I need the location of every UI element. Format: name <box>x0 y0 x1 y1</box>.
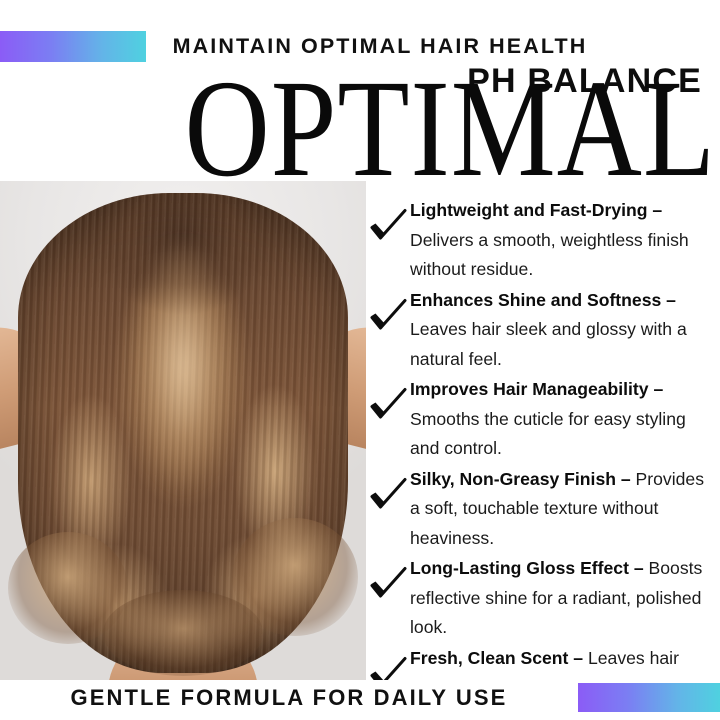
checkmark-icon <box>366 383 410 427</box>
benefit-text: Lightweight and Fast-Drying – Delivers a… <box>410 196 714 285</box>
hair-model-photo <box>0 181 366 680</box>
footer-tagline: GENTLE FORMULA FOR DAILY USE <box>0 682 578 713</box>
benefit-text: Enhances Shine and Softness – Leaves hai… <box>410 286 714 375</box>
benefit-title: Enhances Shine and Softness – <box>410 290 676 310</box>
benefit-description: Delivers a smooth, weightless finish wit… <box>410 230 689 280</box>
checkmark-icon <box>366 562 410 606</box>
list-item: Improves Hair Manageability – Smooths th… <box>368 375 714 464</box>
header-big-word: OPTIMAL <box>0 70 716 188</box>
benefit-text: Silky, Non-Greasy Finish – Provides a so… <box>410 465 714 554</box>
benefit-title: Silky, Non-Greasy Finish – <box>410 469 631 489</box>
benefit-text: Improves Hair Manageability – Smooths th… <box>410 375 714 464</box>
list-item: Long-Lasting Gloss Effect – Boosts refle… <box>368 554 714 643</box>
checkmark-icon <box>366 473 410 517</box>
benefit-title: Fresh, Clean Scent – <box>410 648 583 668</box>
bottom-gradient-accent-bar <box>578 683 720 712</box>
checkmark-icon <box>366 204 410 248</box>
benefits-list: Lightweight and Fast-Drying – Delivers a… <box>368 196 714 704</box>
list-item: Lightweight and Fast-Drying – Delivers a… <box>368 196 714 285</box>
list-item: Enhances Shine and Softness – Leaves hai… <box>368 286 714 375</box>
top-gradient-accent-bar <box>0 31 146 62</box>
list-item: Silky, Non-Greasy Finish – Provides a so… <box>368 465 714 554</box>
benefit-title: Improves Hair Manageability – <box>410 379 663 399</box>
poster-canvas: MAINTAIN OPTIMAL HAIR HEALTH PH BALANCE … <box>0 0 720 720</box>
checkmark-icon <box>366 294 410 338</box>
model-hair <box>18 193 348 673</box>
benefit-title: Long-Lasting Gloss Effect – <box>410 558 644 578</box>
benefit-description: Leaves hair sleek and glossy with a natu… <box>410 319 687 369</box>
benefit-text: Long-Lasting Gloss Effect – Boosts refle… <box>410 554 714 643</box>
benefit-title: Lightweight and Fast-Drying – <box>410 200 662 220</box>
benefit-description: Smooths the cuticle for easy styling and… <box>410 409 686 459</box>
